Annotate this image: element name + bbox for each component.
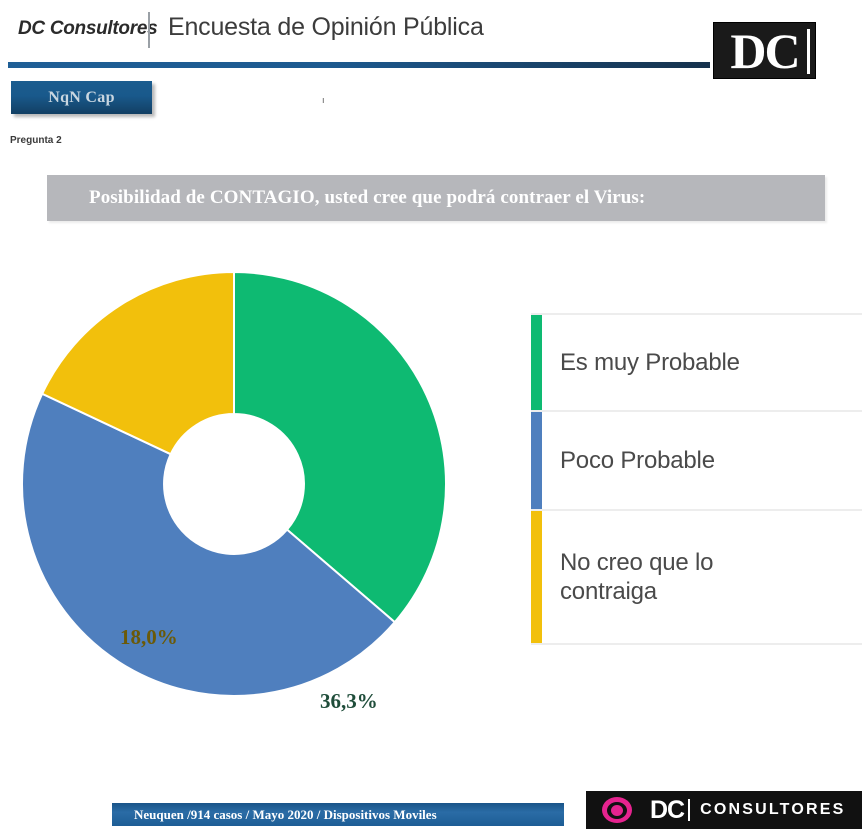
legend-item-poco-probable[interactable]: Poco Probable bbox=[531, 412, 862, 511]
legend-swatch-icon bbox=[531, 511, 542, 643]
slide-root: DC Consultores Encuesta de Opinión Públi… bbox=[0, 0, 862, 829]
donut-chart-svg bbox=[2, 262, 502, 742]
question-index-label: Pregunta 2 bbox=[10, 135, 62, 146]
dc-logo-icon: DC bbox=[713, 22, 816, 79]
dc-logo-text: DC bbox=[714, 23, 815, 78]
legend-item-label: No creo que locontraiga bbox=[560, 548, 713, 607]
footer-dc-consultores-logo: DC CONSULTORES bbox=[586, 791, 862, 829]
legend-swatch-icon bbox=[531, 412, 542, 509]
legend-swatch-icon bbox=[531, 315, 542, 410]
dc-logo-bar bbox=[807, 29, 810, 74]
tab-nqn-cap-label: NqN Cap bbox=[48, 89, 115, 107]
legend-item-no-creo-que-lo-contraiga[interactable]: No creo que locontraiga bbox=[531, 511, 862, 645]
tab-nqn-cap[interactable]: NqN Cap bbox=[11, 81, 152, 114]
legend-item-label: Es muy Probable bbox=[560, 348, 740, 377]
donut-chart: 36,3% 45,7% 18,0% bbox=[2, 262, 502, 742]
page-title: Encuesta de Opinión Pública bbox=[168, 13, 484, 42]
header-rule bbox=[8, 62, 710, 68]
tiny-mark: ı bbox=[322, 95, 325, 105]
header-divider bbox=[148, 12, 150, 48]
chart-legend: Es muy Probable Poco Probable No creo qu… bbox=[531, 313, 862, 649]
question-banner-text: Posibilidad de CONTAGIO, usted cree que … bbox=[89, 187, 645, 209]
legend-item-es-muy-probable[interactable]: Es muy Probable bbox=[531, 313, 862, 412]
concentric-circles-icon bbox=[602, 797, 632, 823]
footer-caption-text: Neuquen /914 casos / Mayo 2020 / Disposi… bbox=[134, 807, 437, 823]
footer-logo-cons-text: CONSULTORES bbox=[700, 801, 845, 819]
footer-caption-bar: Neuquen /914 casos / Mayo 2020 / Disposi… bbox=[112, 803, 564, 826]
footer-logo-divider bbox=[688, 799, 690, 821]
slice-label-es-muy-probable: 36,3% bbox=[320, 689, 378, 714]
footer-logo-dc-text: DC bbox=[650, 796, 684, 825]
legend-item-label: Poco Probable bbox=[560, 446, 715, 475]
question-banner: Posibilidad de CONTAGIO, usted cree que … bbox=[47, 175, 825, 221]
slice-label-no-creo-que-lo-contraiga: 18,0% bbox=[120, 625, 178, 650]
brand-name: DC Consultores bbox=[18, 18, 157, 40]
